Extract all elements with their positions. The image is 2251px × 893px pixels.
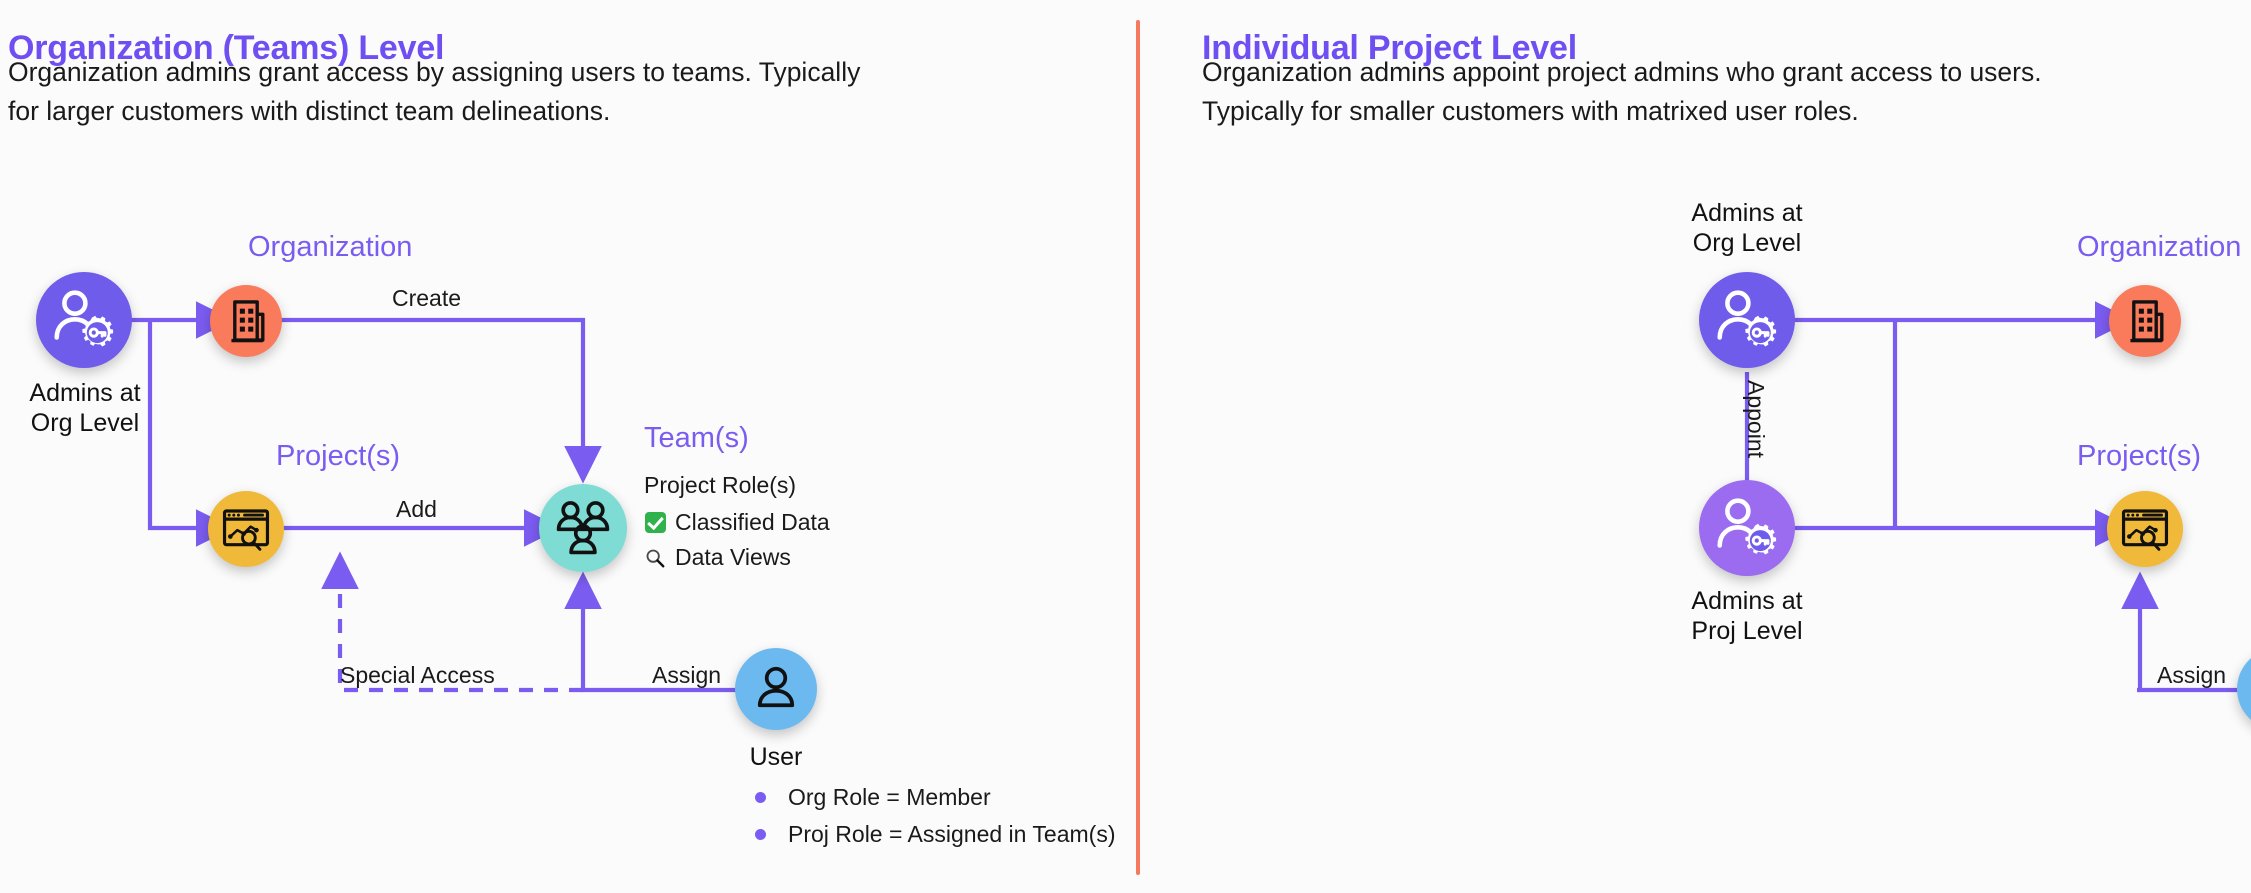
check-icon xyxy=(644,512,666,534)
bullet-label: Org Role = Member xyxy=(788,784,991,811)
edge-label-assign: Assign xyxy=(652,662,721,689)
user-role-bullets: Org Role = Member Proj Role = Assigned i… xyxy=(755,784,1115,858)
bullet-label: Proj Role = Assigned in Team(s) xyxy=(788,821,1115,848)
bullet-dot-icon xyxy=(755,792,766,803)
team-project-roles: Project Role(s) Classified Data Data Vie… xyxy=(644,472,830,579)
left-diagram-edges xyxy=(0,0,1137,893)
right-diagram: Admins at Org Level Appoint Admins at Pr… xyxy=(1137,0,2251,893)
node-title-teams: Team(s) xyxy=(644,422,749,455)
admin-key-icon xyxy=(1712,493,1782,563)
node-projects[interactable] xyxy=(208,491,284,567)
building-icon xyxy=(2117,293,2173,349)
building-icon xyxy=(218,293,274,349)
role-label: Classified Data xyxy=(675,509,830,536)
node-admins-at-org-level[interactable] xyxy=(36,272,132,368)
edge-label-appoint: Appoint xyxy=(1742,380,1769,458)
user-icon xyxy=(747,660,805,718)
project-chart-icon xyxy=(217,500,275,558)
project-chart-icon xyxy=(2116,500,2174,558)
edge-label-add: Add xyxy=(396,496,437,523)
organization-teams-level-panel: Organization (Teams) Level Organization … xyxy=(0,0,1137,893)
admin-key-icon xyxy=(1712,285,1782,355)
magnifier-icon xyxy=(644,547,666,569)
node-title-organization: Organization xyxy=(2077,231,2241,264)
node-title-projects: Project(s) xyxy=(2077,440,2201,473)
node-caption-user: User xyxy=(2237,742,2251,772)
node-organization[interactable] xyxy=(210,285,282,357)
bullet-item: Proj Role = Assigned in Team(s) xyxy=(755,821,1115,848)
bullet-dot-icon xyxy=(755,829,766,840)
team-people-icon xyxy=(550,495,616,561)
node-caption-admins-org: Admins at Org Level xyxy=(0,378,170,438)
node-title-organization: Organization xyxy=(248,231,412,264)
node-projects[interactable] xyxy=(2107,491,2183,567)
roles-heading: Project Role(s) xyxy=(644,472,830,499)
node-admins-at-proj-level[interactable] xyxy=(1699,480,1795,576)
node-admins-at-org-level[interactable] xyxy=(1699,272,1795,368)
node-caption-admins-proj: Admins at Proj Level xyxy=(1662,586,1832,646)
node-organization[interactable] xyxy=(2109,285,2181,357)
bullet-item: Org Role = Member xyxy=(755,784,1115,811)
node-caption-user: User xyxy=(735,742,817,772)
role-label: Data Views xyxy=(675,544,791,571)
edge-label-create: Create xyxy=(392,285,461,312)
role-data-views: Data Views xyxy=(644,544,830,571)
edge-label-special-access: Special Access xyxy=(340,662,495,689)
edge-label-assign: Assign xyxy=(2157,662,2226,689)
node-user[interactable] xyxy=(735,648,817,730)
left-diagram: Admins at Org Level Organization Create … xyxy=(0,0,1137,893)
node-teams[interactable] xyxy=(539,484,627,572)
node-caption-admins-org: Admins at Org Level xyxy=(1662,198,1832,258)
individual-project-level-panel: Individual Project Level Organization ad… xyxy=(1137,0,2251,893)
role-classified-data: Classified Data xyxy=(644,509,830,536)
admin-key-icon xyxy=(49,285,119,355)
node-title-projects: Project(s) xyxy=(276,440,400,473)
